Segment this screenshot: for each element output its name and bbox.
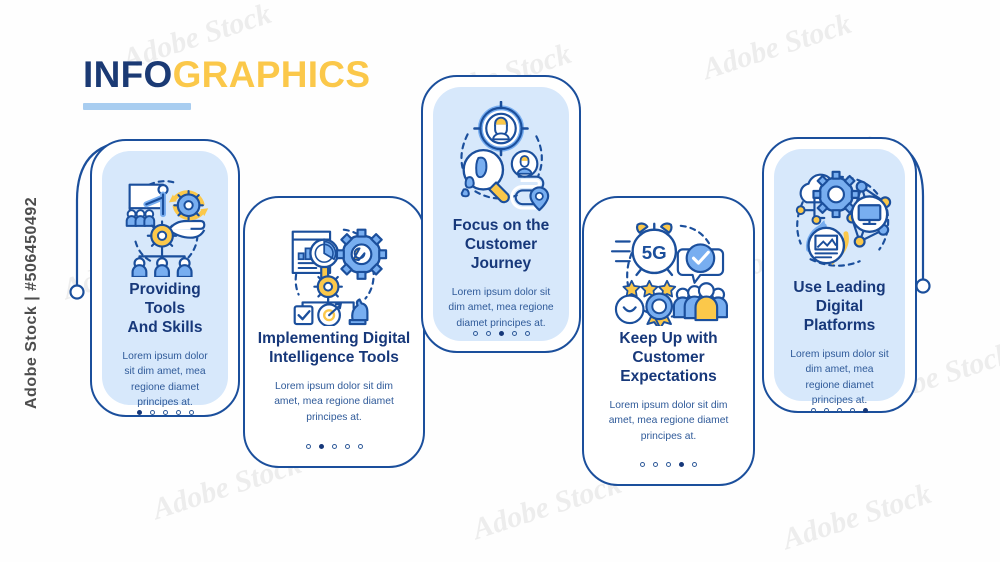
card-use-leading-digital-platforms[interactable]: Use Leading Digital Platforms Lorem ipsu… xyxy=(762,137,917,413)
card-keep-up-with-customer-expectations[interactable]: 5G xyxy=(582,196,755,486)
card-title-line: Providing Tools xyxy=(129,281,200,317)
step-dot[interactable] xyxy=(837,408,842,413)
card-body-text: Lorem ipsum dolor sit dim amet, mea regi… xyxy=(255,379,413,425)
watermark-tile: Adobe Stock xyxy=(699,7,856,87)
card-providing-tools-and-skills[interactable]: Providing Tools And Skills Lorem ipsum d… xyxy=(90,139,240,417)
card-title: Keep Up with Customer Expectations xyxy=(609,330,727,387)
card-focus-on-the-customer-journey[interactable]: Focus on the Customer Journey Lorem ipsu… xyxy=(421,75,581,353)
card-title-line: Keep Up with xyxy=(619,330,717,347)
step-dot[interactable] xyxy=(850,408,855,413)
page-title: INFOGRAPHICS xyxy=(83,56,370,110)
step-dots[interactable] xyxy=(811,408,868,413)
customer-expectations-icon: 5G xyxy=(610,214,728,326)
step-dot[interactable] xyxy=(679,462,684,467)
card-title: Implementing Digital Intelligence Tools xyxy=(248,330,420,368)
stock-watermark: Adobe Stock | #506450492 xyxy=(23,209,41,409)
title-primary: INFO xyxy=(83,54,173,95)
customer-journey-icon xyxy=(442,101,560,213)
step-dot[interactable] xyxy=(189,410,194,415)
step-dot[interactable] xyxy=(499,331,504,336)
step-dots[interactable] xyxy=(640,462,697,467)
digital-intelligence-tools-icon xyxy=(275,214,393,326)
step-dot[interactable] xyxy=(345,444,350,449)
card-title: Use Leading Digital Platforms xyxy=(783,279,895,336)
step-dot[interactable] xyxy=(692,462,697,467)
step-dots[interactable] xyxy=(473,331,530,336)
step-dot[interactable] xyxy=(473,331,478,336)
step-dot[interactable] xyxy=(666,462,671,467)
step-dot[interactable] xyxy=(176,410,181,415)
infographic-canvas: Adobe Stock Adobe Stock Adobe Stock Adob… xyxy=(0,0,1000,562)
step-dot[interactable] xyxy=(332,444,337,449)
card-body-text: Lorem ipsum dolor sit dim amet, mea regi… xyxy=(774,347,905,409)
step-dot[interactable] xyxy=(640,462,645,467)
step-dot[interactable] xyxy=(358,444,363,449)
step-dot[interactable] xyxy=(319,444,324,449)
step-dots[interactable] xyxy=(306,444,363,449)
card-title-line: Customer xyxy=(632,349,704,366)
clock-5g-label: 5G xyxy=(641,242,666,263)
step-dot[interactable] xyxy=(306,444,311,449)
card-body-text: Lorem ipsum dolor sit dim amet, mea regi… xyxy=(433,285,569,331)
card-title-line: Focus on the xyxy=(453,217,549,234)
step-dot[interactable] xyxy=(137,410,142,415)
training-tools-icon xyxy=(106,165,224,277)
card-title-line: Platforms xyxy=(804,317,876,334)
step-dot[interactable] xyxy=(824,408,829,413)
step-dot[interactable] xyxy=(163,410,168,415)
step-dot[interactable] xyxy=(525,331,530,336)
card-title: Providing Tools And Skills xyxy=(102,281,228,338)
card-body-text: Lorem ipsum dolor sit dim amet, mea regi… xyxy=(102,349,228,411)
title-secondary: GRAPHICS xyxy=(173,54,371,95)
card-title-line: Journey xyxy=(471,255,531,272)
card-title-line: Expectations xyxy=(620,368,716,385)
step-dots[interactable] xyxy=(137,410,194,415)
card-title-line: Digital xyxy=(816,298,863,315)
card-title-line: Use Leading xyxy=(793,279,885,296)
title-underline-rule xyxy=(83,103,191,110)
digital-platforms-icon xyxy=(781,163,899,275)
step-dot[interactable] xyxy=(150,410,155,415)
step-dot[interactable] xyxy=(486,331,491,336)
step-dot[interactable] xyxy=(512,331,517,336)
card-title-line: Implementing Digital xyxy=(258,330,410,347)
card-body-text: Lorem ipsum dolor sit dim amet, mea regi… xyxy=(590,398,748,444)
card-implementing-digital-intelligence-tools[interactable]: Implementing Digital Intelligence Tools … xyxy=(243,196,425,468)
card-title-line: Intelligence Tools xyxy=(269,349,399,366)
step-dot[interactable] xyxy=(653,462,658,467)
step-dot[interactable] xyxy=(811,408,816,413)
step-dot[interactable] xyxy=(863,408,868,413)
card-title-line: Customer xyxy=(465,236,537,253)
watermark-tile: Adobe Stock xyxy=(779,477,936,557)
card-title: Focus on the Customer Journey xyxy=(443,217,559,274)
card-title-line: And Skills xyxy=(128,319,203,336)
